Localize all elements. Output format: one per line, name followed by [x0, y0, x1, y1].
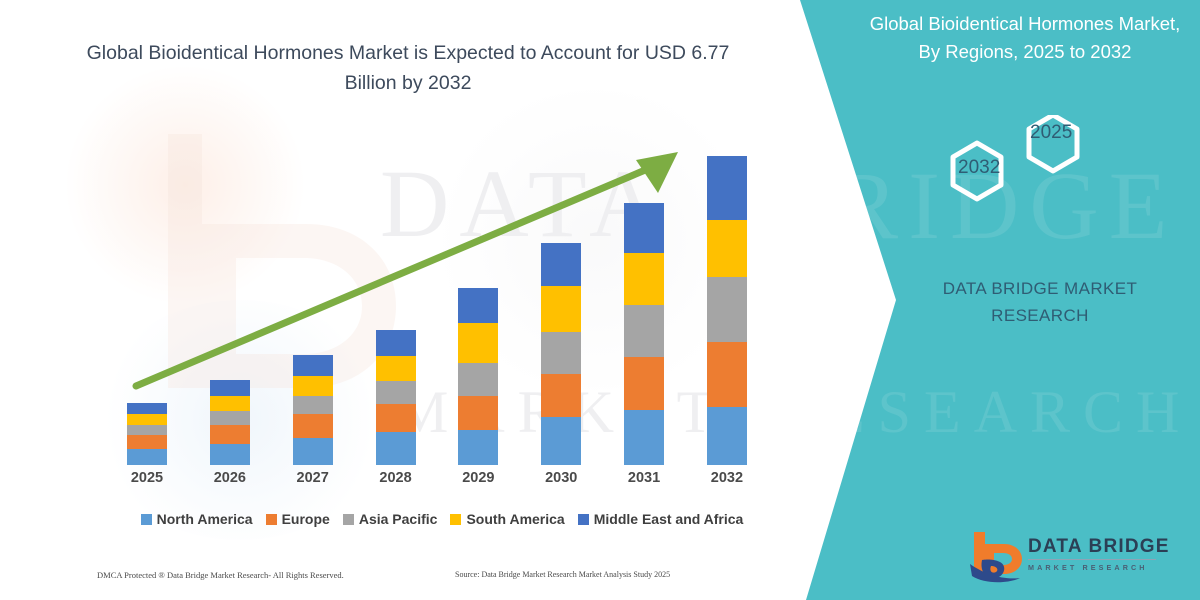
- footer-copyright: DMCA Protected ® Data Bridge Market Rese…: [97, 570, 344, 580]
- bar-segment: [707, 220, 747, 277]
- bar-segment: [127, 435, 167, 449]
- bar-segment: [376, 356, 416, 381]
- stacked-bar: [127, 403, 167, 465]
- panel-brand: DATA BRIDGE MARKET RESEARCH: [890, 275, 1190, 329]
- bar-segment: [541, 417, 581, 465]
- bar-segment: [624, 253, 664, 305]
- panel-brand-line1: DATA BRIDGE MARKET: [890, 275, 1190, 302]
- bar-segment: [293, 414, 333, 438]
- bar-segment: [707, 156, 747, 220]
- bar-segment: [210, 380, 250, 396]
- footer-source: Source: Data Bridge Market Research Mark…: [455, 570, 670, 579]
- hex-label-near: 2025: [1030, 122, 1072, 144]
- stacked-bar: [210, 380, 250, 465]
- legend-swatch-icon: [343, 514, 354, 525]
- bar-segment: [376, 404, 416, 432]
- bar-column: [692, 140, 762, 465]
- x-axis-tick-label: 2028: [361, 470, 431, 496]
- bar-segment: [293, 396, 333, 414]
- bar-segment: [127, 414, 167, 425]
- chart-legend: North AmericaEuropeAsia PacificSouth Ame…: [112, 511, 772, 527]
- legend-item[interactable]: Europe: [266, 511, 330, 527]
- bar-segment: [458, 430, 498, 465]
- bar-group: [112, 140, 762, 465]
- stacked-bar: [293, 355, 333, 465]
- x-axis-tick-label: 2026: [195, 470, 265, 496]
- x-axis-tick-label: 2029: [443, 470, 513, 496]
- legend-swatch-icon: [450, 514, 461, 525]
- bar-segment: [376, 330, 416, 356]
- bar-segment: [541, 374, 581, 417]
- bar-segment: [707, 407, 747, 465]
- legend-item[interactable]: Middle East and Africa: [578, 511, 744, 527]
- legend-label: North America: [157, 511, 253, 527]
- x-axis-tick-label: 2030: [526, 470, 596, 496]
- stacked-bar: [541, 243, 581, 465]
- x-axis-labels: 20252026202720282029203020312032: [112, 470, 762, 496]
- panel-title: Global Bioidentical Hormones Market, By …: [865, 10, 1185, 66]
- infographic-canvas: DATA MARKET BRIDGE RESEARCH Global Bioid…: [0, 0, 1200, 600]
- bar-column: [195, 140, 265, 465]
- bar-segment: [707, 342, 747, 407]
- logo-wordmark: DATA BRIDGE MARKET RESEARCH: [1028, 536, 1170, 574]
- bar-segment: [376, 381, 416, 404]
- bar-segment: [541, 286, 581, 332]
- legend-item[interactable]: Asia Pacific: [343, 511, 438, 527]
- stacked-bar: [458, 288, 498, 465]
- x-axis-tick-label: 2027: [278, 470, 348, 496]
- bar-segment: [458, 288, 498, 323]
- bar-segment: [707, 277, 747, 342]
- bar-segment: [127, 403, 167, 414]
- bar-segment: [293, 376, 333, 396]
- x-axis-tick-label: 2032: [692, 470, 762, 496]
- logo-tagline: MARKET RESEARCH: [1028, 562, 1170, 574]
- bar-segment: [127, 425, 167, 435]
- hexagon-badges: 2032 2025: [925, 115, 1125, 225]
- legend-swatch-icon: [578, 514, 589, 525]
- legend-swatch-icon: [266, 514, 277, 525]
- bar-segment: [127, 449, 167, 465]
- bar-segment: [458, 363, 498, 396]
- stacked-bar: [624, 203, 664, 465]
- panel-brand-line2: RESEARCH: [890, 302, 1190, 329]
- stacked-bar-chart: [112, 140, 762, 465]
- legend-swatch-icon: [141, 514, 152, 525]
- bar-segment: [293, 438, 333, 465]
- watermark-line-2b: RESEARCH: [775, 378, 1192, 447]
- legend-item[interactable]: South America: [450, 511, 564, 527]
- bar-segment: [293, 355, 333, 376]
- bar-segment: [624, 410, 664, 465]
- page-title: Global Bioidentical Hormones Market is E…: [78, 38, 738, 98]
- data-bridge-logo: DATA BRIDGE MARKET RESEARCH: [968, 530, 1183, 586]
- logo-name: DATA BRIDGE: [1028, 536, 1170, 558]
- bar-column: [278, 140, 348, 465]
- legend-label: Asia Pacific: [359, 511, 438, 527]
- bar-segment: [376, 432, 416, 465]
- bar-column: [609, 140, 679, 465]
- bar-segment: [624, 305, 664, 357]
- legend-item[interactable]: North America: [141, 511, 253, 527]
- bar-column: [443, 140, 513, 465]
- x-axis-tick-label: 2025: [112, 470, 182, 496]
- bar-segment: [210, 444, 250, 465]
- legend-label: Middle East and Africa: [594, 511, 744, 527]
- bar-segment: [458, 323, 498, 363]
- stacked-bar: [707, 156, 747, 465]
- bar-column: [526, 140, 596, 465]
- legend-label: Europe: [282, 511, 330, 527]
- bar-segment: [624, 203, 664, 253]
- data-bridge-mark-icon: [968, 530, 1026, 584]
- bar-segment: [210, 425, 250, 444]
- bar-column: [112, 140, 182, 465]
- x-axis-tick-label: 2031: [609, 470, 679, 496]
- bar-segment: [210, 396, 250, 411]
- bar-segment: [210, 411, 250, 425]
- bar-segment: [624, 357, 664, 410]
- bar-segment: [541, 243, 581, 286]
- bar-column: [361, 140, 431, 465]
- stacked-bar: [376, 330, 416, 465]
- hexagon-outlines-icon: [925, 115, 1125, 225]
- hex-label-far: 2032: [958, 157, 1000, 179]
- bar-segment: [541, 332, 581, 374]
- bar-segment: [458, 396, 498, 430]
- legend-label: South America: [466, 511, 564, 527]
- logo-divider: [1028, 559, 1156, 560]
